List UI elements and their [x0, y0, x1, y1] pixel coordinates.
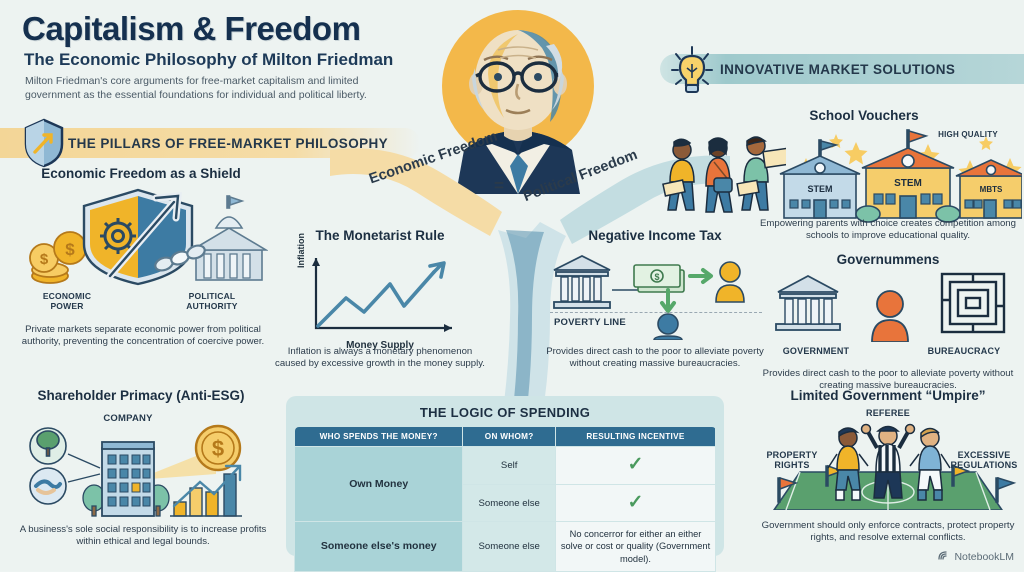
panel-vouchers-caption: Empowering parents with choice creates c…: [754, 218, 1022, 243]
check-icon: ✓: [628, 454, 644, 475]
government-label-right: BUREAUCRACY: [912, 346, 1016, 356]
ribbon-equals: =: [494, 176, 504, 196]
check-icon: ✓: [628, 492, 644, 513]
table-cell-who: Someone else's money: [295, 522, 463, 571]
page-title: Capitalism & Freedom: [22, 10, 360, 48]
shield-illustration: $ $: [14, 188, 268, 291]
table-col-incentive: RESULTING INCENTIVE: [556, 427, 716, 447]
svg-text:$: $: [65, 240, 75, 259]
table-col-on-whom: ON WHOM?: [463, 427, 556, 447]
panel-negative-income-tax: Negative Income Tax: [540, 228, 770, 368]
panel-umpire: Limited Government “Umpire” REFEREE: [752, 388, 1024, 568]
shareholder-illustration: $: [28, 424, 258, 523]
panel-vouchers-title: School Vouchers: [724, 108, 1004, 123]
umpire-label-property-rights: PROPERTY RIGHTS: [756, 450, 828, 471]
panel-government-title: Governummens: [752, 252, 1024, 267]
poverty-line-divider: [550, 312, 762, 313]
svg-text:MBTS: MBTS: [980, 185, 1003, 194]
svg-text:STEM: STEM: [894, 178, 922, 189]
panel-government: Governummens: [752, 252, 1024, 372]
table-cell-on-whom: Self: [463, 447, 556, 485]
table-cell-incentive: No concerror for either an either solve …: [556, 522, 716, 571]
panel-monetarist: The Monetarist Rule Inflation Money Supp…: [272, 228, 488, 368]
umpire-label-excessive-regulations: EXCESSIVE REGULATIONS: [944, 450, 1024, 471]
shield-label-political-authority: POLITICAL AUTHORITY: [166, 292, 258, 312]
table-col-who: WHO SPENDS THE MONEY?: [295, 427, 463, 447]
table-title: THE LOGIC OF SPENDING: [294, 405, 716, 420]
panel-shareholder-title: Shareholder Primacy (Anti-ESG): [10, 388, 272, 403]
panel-vouchers: School Vouchers: [650, 108, 1024, 248]
monetarist-chart: Inflation Money Supply: [300, 254, 460, 339]
chart-y-axis-label: Inflation: [296, 233, 306, 268]
notebooklm-icon: [937, 549, 950, 565]
government-illustration: [774, 270, 1006, 347]
panel-umpire-caption: Government should only enforce contracts…: [752, 520, 1024, 545]
poverty-line-label: POVERTY LINE: [554, 318, 644, 329]
panel-umpire-title: Limited Government “Umpire”: [752, 388, 1024, 403]
logic-of-spending-table: THE LOGIC OF SPENDING WHO SPENDS THE MON…: [286, 396, 724, 556]
table-cell-incentive: ✓: [556, 484, 716, 522]
watermark: NotebookLM: [937, 549, 1014, 565]
panel-shield: Economic Freedom as a Shield $ $: [6, 166, 276, 366]
table-row: Someone else's money Someone else No con…: [295, 522, 716, 571]
panel-monetarist-caption-text: Inflation is always a monetary phenomeno…: [272, 346, 488, 371]
watermark-label: NotebookLM: [954, 551, 1014, 563]
panel-nit-caption: Provides direct cash to the poor to alle…: [540, 346, 770, 371]
svg-text:$: $: [654, 272, 659, 282]
table-row: Own Money Self ✓: [295, 447, 716, 485]
schools-illustration: STEM STEM: [778, 128, 1022, 229]
shield-arrow-icon: [22, 118, 66, 173]
nit-illustration: $: [550, 250, 762, 345]
infographic-canvas: Capitalism & Freedom The Economic Philos…: [0, 0, 1024, 571]
panel-shareholder-caption: A business's sole social responsibility …: [18, 524, 268, 549]
table-header-row: WHO SPENDS THE MONEY? ON WHOM? RESULTING…: [295, 427, 716, 447]
page-lede: Milton Friedman's core arguments for fre…: [25, 74, 405, 102]
page-subtitle: The Economic Philosophy of Milton Friedm…: [24, 50, 393, 70]
parents-walking-illustration: [656, 136, 786, 225]
banner-solutions-label: INNOVATIVE MARKET SOLUTIONS: [720, 62, 955, 77]
table-cell-on-whom: Someone else: [463, 522, 556, 571]
panel-shield-title: Economic Freedom as a Shield: [6, 166, 276, 181]
table-cell-who: Own Money: [295, 447, 463, 522]
svg-text:$: $: [40, 251, 49, 268]
table-cell-incentive: ✓: [556, 447, 716, 485]
panel-shareholder: Shareholder Primacy (Anti-ESG) COMPANY: [10, 388, 272, 554]
shield-label-economic-power: ECONOMIC POWER: [26, 292, 108, 312]
high-quality-badge: HIGH QUALITY: [938, 130, 998, 139]
banner-pillars-label: THE PILLARS OF FREE-MARKET PHILOSOPHY: [68, 136, 388, 151]
panel-shield-caption: Private markets separate economic power …: [18, 324, 268, 349]
svg-text:$: $: [212, 436, 224, 461]
svg-text:STEM: STEM: [807, 184, 832, 194]
lightbulb-icon: [668, 44, 716, 101]
referee-label: REFEREE: [848, 408, 928, 418]
table-cell-on-whom: Someone else: [463, 484, 556, 522]
government-label-left: GOVERNMENT: [768, 346, 864, 356]
